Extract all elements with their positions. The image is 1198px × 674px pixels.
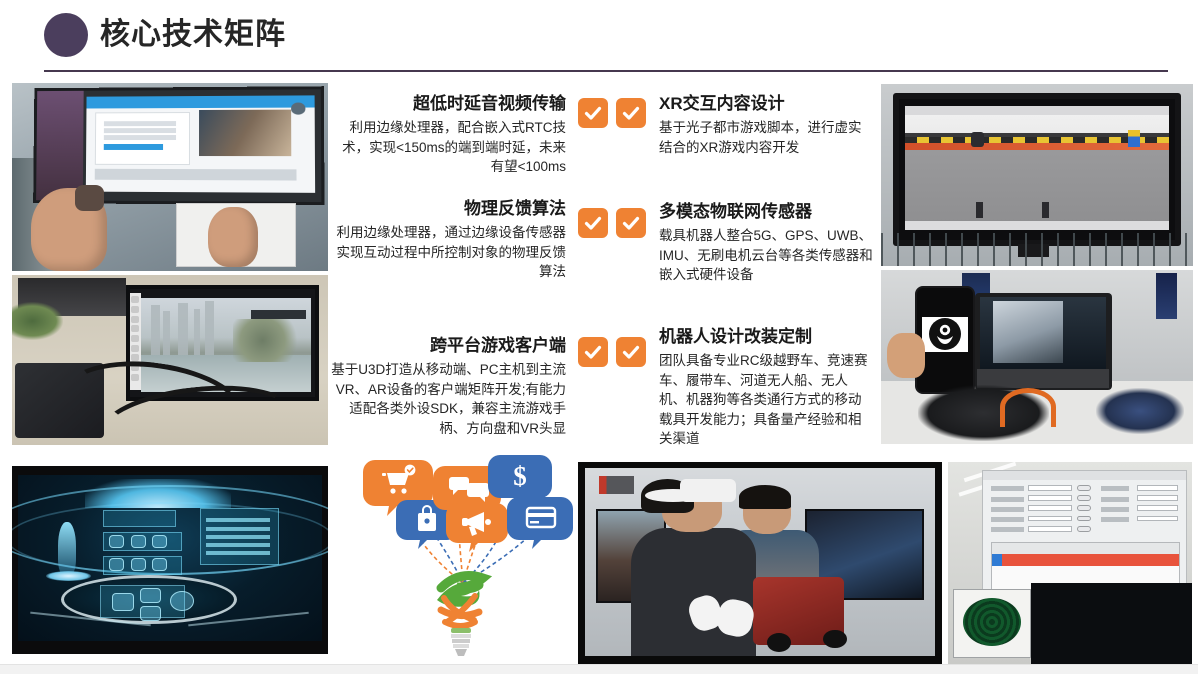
check-icon [578,337,608,367]
check-icon-row-3 [578,337,646,367]
page-title: 核心技术矩阵 [100,14,286,56]
feature-robot-design-custom: 机器人设计改装定制 团队具备专业RC级越野车、竞速赛车、履带车、河道无人船、无人… [659,325,871,449]
phone-logo-icon [922,317,968,352]
title-divider [44,70,1168,72]
slide-header: 核心技术矩阵 [0,0,1198,72]
check-icon [616,337,646,367]
feature-cross-platform-client: 跨平台游戏客户端 基于U3D打造从移动端、PC主机到主流VR、AR设备的客户端矩… [330,334,566,438]
hands-in-front-of-monitor-photo [12,83,328,271]
control-software-screen-photo [948,462,1192,664]
feature-ultra-low-latency-av: 超低时延音视频传输 利用边缘处理器，配合嵌入式RTC技术，实现<150ms的端到… [330,92,566,177]
vr-headset-demo-photo [578,462,942,664]
feature-heading: 跨平台游戏客户端 [330,334,566,357]
slide-footer [0,664,1198,674]
edge-device-monitor-river-scene-photo [12,275,328,445]
check-icon [578,98,608,128]
check-icon [578,208,608,238]
check-icon [616,98,646,128]
feature-body: 利用边缘处理器，配合嵌入式RTC技术，实现<150ms的端到端时延，未来有望<1… [330,118,566,177]
feature-body: 基于U3D打造从移动端、PC主机到主流VR、AR设备的客户端矩阵开发;有能力适配… [330,360,566,438]
check-icon-row-1 [578,98,646,128]
feature-heading: 超低时延音视频传输 [330,92,566,115]
feature-heading: 物理反馈算法 [330,197,566,220]
feature-body: 团队具备专业RC级越野车、竞速赛车、履带车、河道无人船、无人机、机器狗等各类通行… [659,351,871,449]
feature-body: 基于光子都市游戏脚本，进行虚实结合的XR游戏内容开发 [659,118,871,157]
lightbulb-bubbles-infographic: $ [345,450,575,665]
dollar-sign-icon: $ [513,461,527,491]
check-icon-row-2 [578,208,646,238]
phone-logo-laptop-drone-photo [881,270,1193,444]
feature-multimodal-iot-sensors: 多模态物联网传感器 载具机器人整合5G、GPS、UWB、IMU、无刷电机云台等各… [659,200,875,285]
feature-xr-content-design: XR交互内容设计 基于光子都市游戏脚本，进行虚实结合的XR游戏内容开发 [659,92,871,157]
feature-heading: 机器人设计改装定制 [659,325,871,348]
driving-simulation-monitor-photo [881,84,1193,266]
check-icon [616,208,646,238]
title-bullet-icon [44,13,88,57]
feature-heading: 多模态物联网传感器 [659,200,875,223]
megaphone-bubble [446,503,508,552]
lightbulb-icon [437,576,483,656]
feature-physics-feedback: 物理反馈算法 利用边缘处理器，通过边缘设备传感器实现互动过程中所控制对象的物理反… [330,197,566,282]
feature-body: 载具机器人整合5G、GPS、UWB、IMU、无刷电机云台等各类传感器和嵌入式硬件… [659,226,875,285]
holographic-control-room-photo [12,466,328,654]
slide-root: 核心技术矩阵 [0,0,1198,674]
feature-body: 利用边缘处理器，通过边缘设备传感器实现互动过程中所控制对象的物理反馈算法 [330,223,566,282]
credit-card-bubble [507,497,573,549]
feature-heading: XR交互内容设计 [659,92,871,115]
